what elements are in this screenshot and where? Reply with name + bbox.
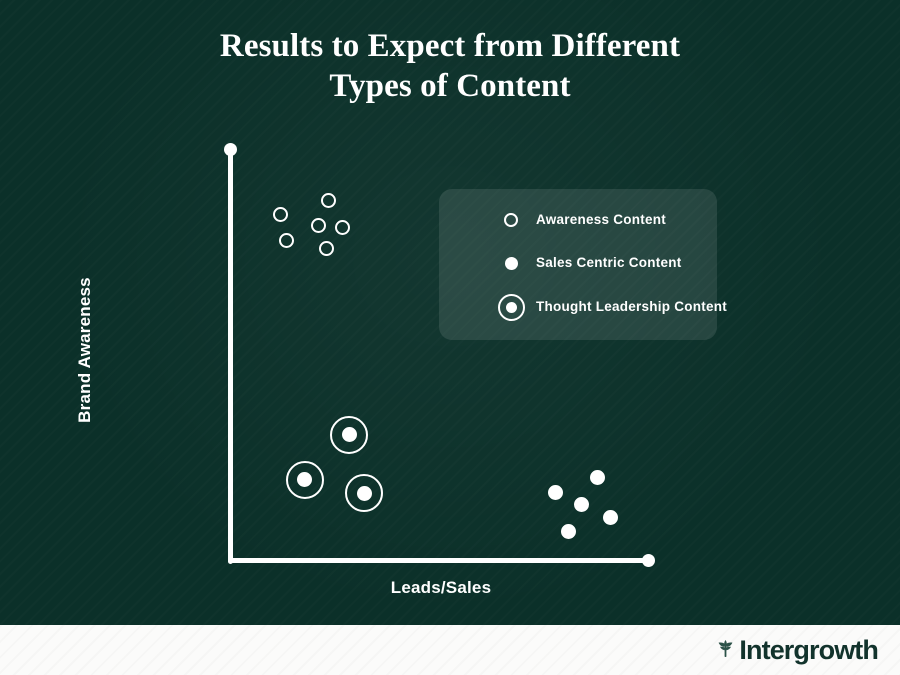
data-point-awareness — [321, 193, 336, 208]
data-point-sales — [603, 510, 618, 525]
y-axis-cap-dot — [224, 143, 237, 156]
data-point-awareness — [279, 233, 294, 248]
y-axis-label: Brand Awareness — [75, 220, 95, 480]
legend-marker-awareness — [495, 198, 527, 242]
ringed-dot-icon — [498, 294, 525, 321]
legend-item-thought-leadership-content[interactable]: Thought Leadership Content — [439, 285, 717, 329]
legend-item-sales-centric-content[interactable]: Sales Centric Content — [439, 241, 717, 285]
legend-label-awareness: Awareness Content — [536, 198, 666, 242]
legend-marker-sales — [495, 241, 527, 285]
brand-logo[interactable]: Intergrowth — [716, 625, 878, 675]
sprout-icon — [716, 637, 735, 664]
filled-dot-icon — [505, 257, 518, 270]
hollow-circle-icon — [504, 213, 518, 227]
legend-item-awareness-content[interactable]: Awareness Content — [439, 198, 717, 242]
data-point-thought-leadership — [286, 461, 324, 499]
legend-marker-thought — [495, 285, 527, 329]
infographic-canvas: Results to Expect from Different Types o… — [0, 0, 900, 675]
data-point-sales — [561, 524, 576, 539]
chart-legend: Awareness Content Sales Centric Content … — [439, 189, 717, 340]
data-point-awareness — [273, 207, 288, 222]
data-point-awareness — [311, 218, 326, 233]
x-axis-label: Leads/Sales — [281, 578, 601, 598]
data-point-sales — [590, 470, 605, 485]
scatter-plot: Brand Awareness Leads/Sales Awareness Co… — [0, 0, 900, 625]
legend-label-thought: Thought Leadership Content — [536, 285, 727, 329]
data-point-thought-leadership — [345, 474, 383, 512]
x-axis-cap-dot — [642, 554, 655, 567]
data-point-sales — [548, 485, 563, 500]
data-point-awareness — [319, 241, 334, 256]
x-axis-line — [228, 558, 650, 563]
data-point-sales — [574, 497, 589, 512]
brand-logo-text: Intergrowth — [739, 637, 878, 664]
data-point-awareness — [335, 220, 350, 235]
data-point-thought-leadership — [330, 416, 368, 454]
legend-label-sales: Sales Centric Content — [536, 241, 682, 285]
footer-bar: Intergrowth — [0, 625, 900, 675]
y-axis-line — [228, 149, 233, 564]
